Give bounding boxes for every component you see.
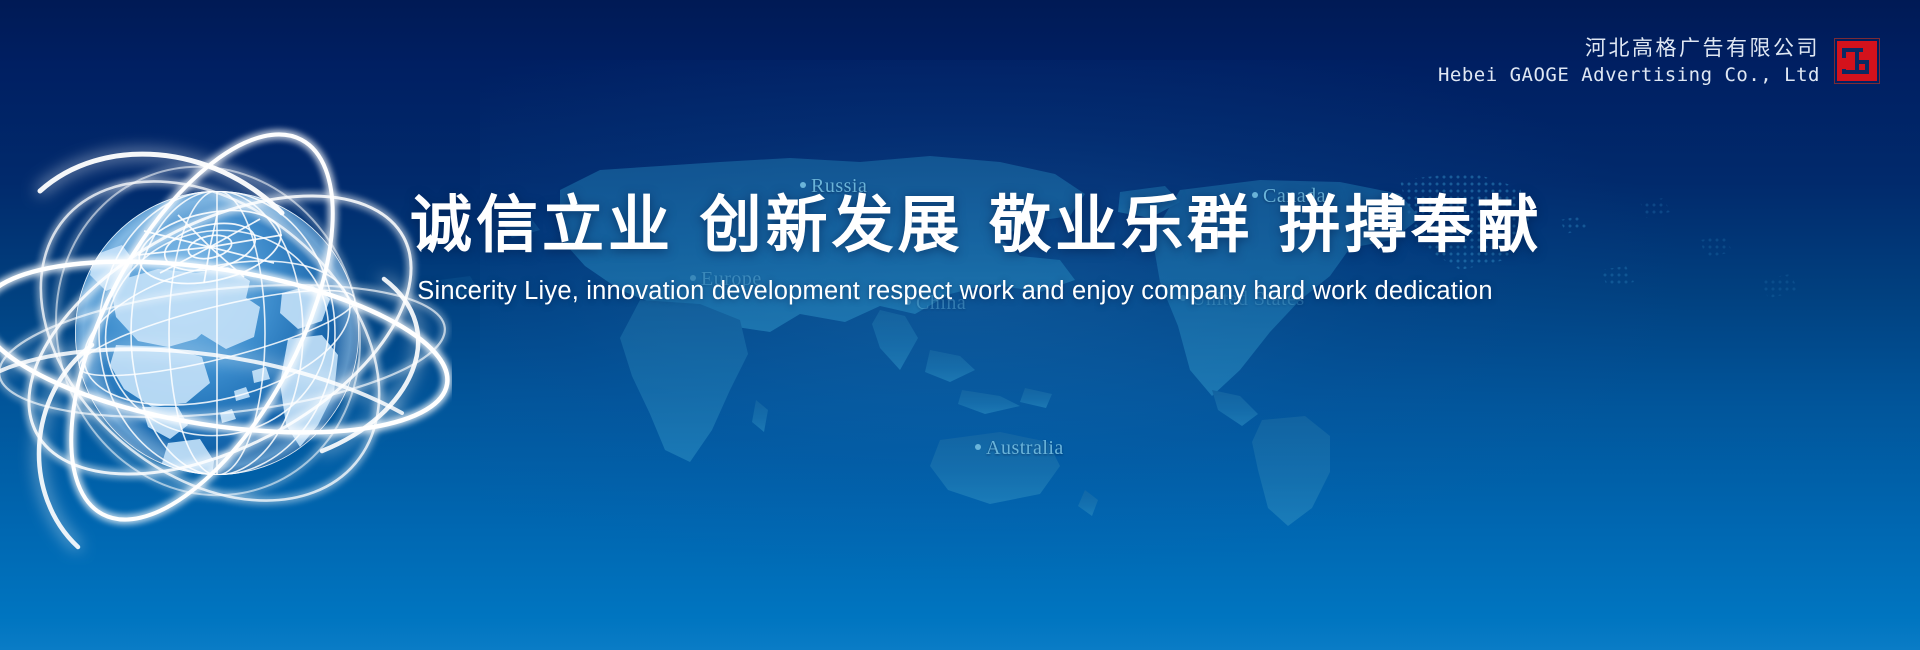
slogan-block: 诚信立业 创新发展 敬业乐群 拼搏奉献 Sincerity Liye, inno… xyxy=(410,192,1500,306)
globe-orbit-graphic xyxy=(0,95,452,565)
company-header: 河北高格广告有限公司 Hebei GAOGE Advertising Co., … xyxy=(1438,36,1880,87)
company-name-en: Hebei GAOGE Advertising Co., Ltd xyxy=(1438,64,1820,87)
slogan-headline-cn: 诚信立业 创新发展 敬业乐群 拼搏奉献 xyxy=(410,192,1500,257)
company-name-cn: 河北高格广告有限公司 xyxy=(1585,36,1820,61)
map-label-australia: Australia xyxy=(975,437,1064,460)
banner-root: Russia Canada Europe China United States… xyxy=(0,0,1920,650)
gaoge-square-logo-icon xyxy=(1834,38,1880,84)
company-name-block: 河北高格广告有限公司 Hebei GAOGE Advertising Co., … xyxy=(1438,36,1820,87)
slogan-subtitle-en: Sincerity Liye, innovation development r… xyxy=(410,277,1500,306)
